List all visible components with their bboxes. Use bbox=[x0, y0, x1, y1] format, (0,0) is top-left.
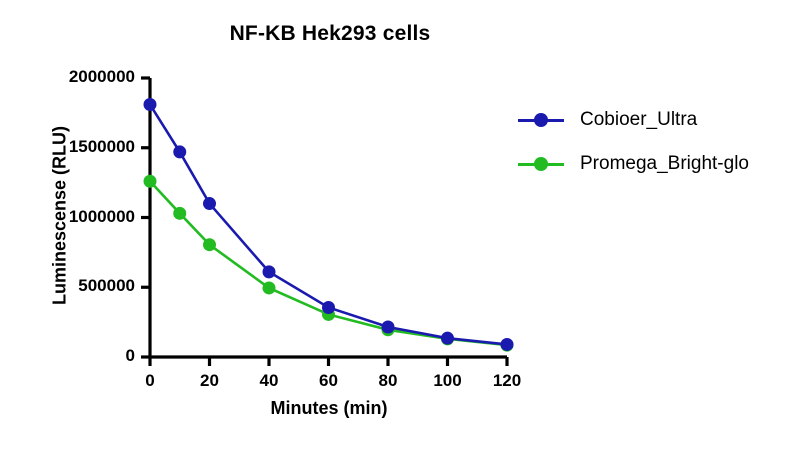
data-point-marker bbox=[501, 338, 514, 351]
data-point-marker bbox=[382, 321, 395, 334]
x-axis-tick-label: 0 bbox=[120, 371, 180, 391]
legend-item[interactable]: Promega_Bright-glo bbox=[518, 142, 788, 186]
data-series bbox=[144, 175, 514, 352]
x-axis-tick-label: 20 bbox=[180, 371, 240, 391]
x-axis-tick-label: 120 bbox=[477, 371, 537, 391]
data-point-marker bbox=[441, 332, 454, 345]
x-axis-title: Minutes (min) bbox=[150, 398, 508, 419]
data-series-group bbox=[144, 98, 514, 352]
data-point-marker bbox=[144, 175, 157, 188]
legend-dot-icon bbox=[534, 157, 548, 171]
data-point-marker bbox=[263, 265, 276, 278]
legend-item[interactable]: Cobioer_Ultra bbox=[518, 98, 788, 142]
x-axis-tick-label: 80 bbox=[358, 371, 418, 391]
chart-figure: NF-KB Hek293 cells 050000010000001500000… bbox=[0, 0, 796, 454]
x-axis-tick-label: 60 bbox=[299, 371, 359, 391]
data-point-marker bbox=[322, 301, 335, 314]
data-point-marker bbox=[173, 145, 186, 158]
data-point-marker bbox=[144, 98, 157, 111]
data-point-marker bbox=[263, 281, 276, 294]
x-axis-tick-label: 100 bbox=[418, 371, 478, 391]
y-axis-title: Luminescense (RLU) bbox=[50, 66, 71, 366]
legend-label: Cobioer_Ultra bbox=[580, 109, 697, 131]
axes bbox=[141, 78, 507, 366]
data-series bbox=[144, 98, 514, 351]
data-point-marker bbox=[203, 197, 216, 210]
legend-marker-icon bbox=[518, 110, 564, 130]
legend-marker-icon bbox=[518, 154, 564, 174]
data-point-marker bbox=[173, 207, 186, 220]
chart-legend: Cobioer_UltraPromega_Bright-glo bbox=[518, 98, 788, 186]
legend-dot-icon bbox=[534, 113, 548, 127]
legend-label: Promega_Bright-glo bbox=[580, 153, 749, 175]
x-axis-tick-label: 40 bbox=[239, 371, 299, 391]
data-point-marker bbox=[203, 238, 216, 251]
